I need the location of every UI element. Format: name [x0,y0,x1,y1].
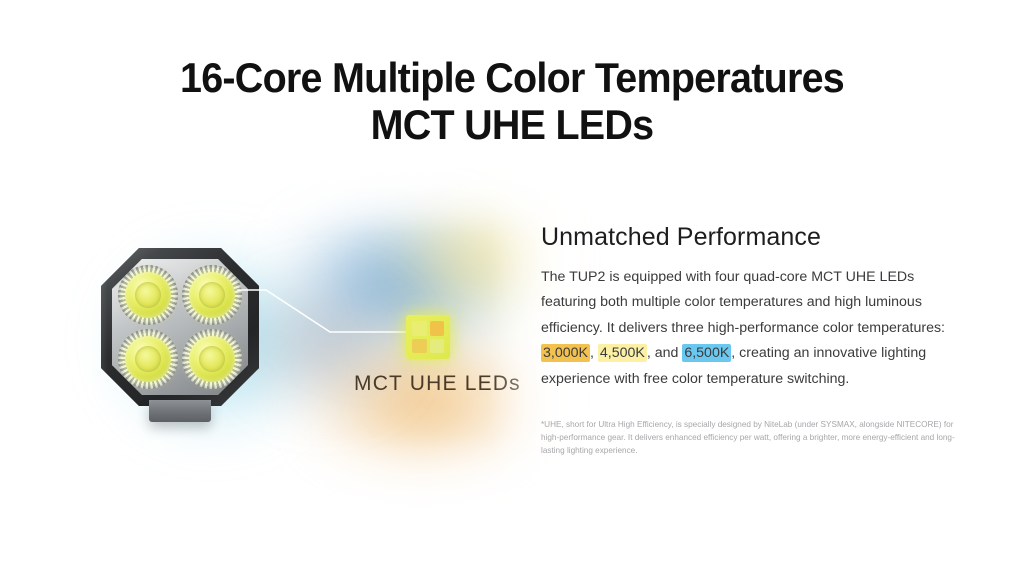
visual-caption: MCT UHE LEDs [354,372,521,396]
led-die-chip-icon [406,315,450,359]
color-temp-4500k: 4,500K [598,344,647,362]
body-text-part-1: The TUP2 is equipped with four quad-core… [541,269,945,336]
color-temp-3000k: 3,000K [541,344,590,362]
content-column: Unmatched Performance The TUP2 is equipp… [541,222,961,466]
die-core [412,339,427,354]
footnote-text: *UHE, short for Ultra High Efficiency, i… [541,418,961,458]
page-title-line-2: MCT UHE LEDs [31,101,994,148]
die-core [430,339,445,354]
module-mount [149,400,211,422]
color-temp-6500k: 6,500K [682,344,731,362]
die-core [412,321,427,336]
die-core [430,321,445,336]
led-module-image [101,248,259,406]
body-separator-1: , [590,345,598,361]
section-heading: Unmatched Performance [541,222,961,252]
body-separator-2: , and [647,345,683,361]
led-grid [116,263,244,391]
module-face [112,259,248,395]
body-paragraph: The TUP2 is equipped with four quad-core… [541,265,961,392]
product-visual: MCT UHE LEDs [58,186,540,506]
page-title: 16-Core Multiple Color Temperatures MCT … [31,54,994,148]
glow-blue [248,194,548,374]
page-title-line-1: 16-Core Multiple Color Temperatures [31,54,994,101]
